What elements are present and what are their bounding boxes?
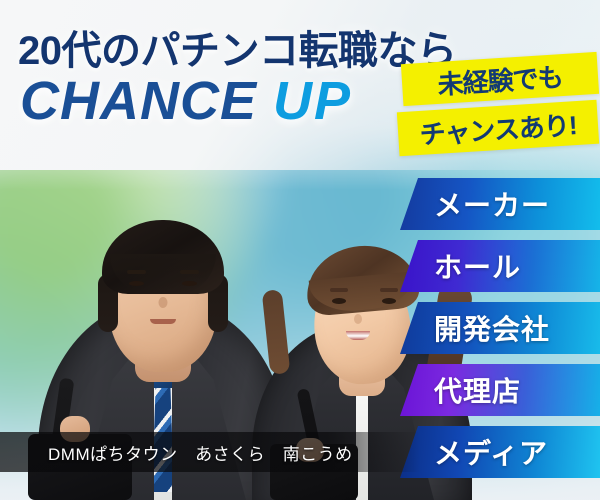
category-tab-hall[interactable]: ホール bbox=[400, 240, 600, 292]
brand-logo-up: UP bbox=[273, 71, 352, 131]
businesswoman-eye-right bbox=[382, 298, 396, 304]
businessman-eyebrow-right bbox=[180, 270, 199, 274]
brand-logo: CHANCEUP bbox=[20, 70, 352, 132]
brand-logo-chance: CHANCE bbox=[20, 71, 257, 131]
promo-badge-inexperienced: 未経験でも bbox=[401, 52, 599, 106]
businessman-eye-left bbox=[129, 281, 144, 286]
category-tab-agency-label: 代理店 bbox=[434, 370, 521, 410]
category-tab-hall-label: ホール bbox=[434, 246, 521, 286]
businessman-eye-right bbox=[182, 281, 197, 286]
caption-band: DMMぱちタウン あさくら 南こうめ bbox=[0, 432, 420, 472]
promo-badge-chance: チャンスあり! bbox=[397, 100, 599, 156]
category-tab-development-company-label: 開発会社 bbox=[434, 308, 550, 348]
businesswoman-eye-left bbox=[332, 298, 346, 304]
advertisement-banner[interactable]: 20代のパチンコ転職なら CHANCEUP 未経験でも チャンスあり! メーカー… bbox=[0, 0, 600, 500]
category-tab-development-company[interactable]: 開発会社 bbox=[400, 302, 600, 354]
businesswoman-eyebrow-left bbox=[330, 288, 348, 292]
category-tab-list: メーカー ホール 開発会社 代理店 メディア bbox=[400, 178, 600, 488]
businessman-hair bbox=[102, 220, 224, 294]
category-tab-maker-label: メーカー bbox=[434, 184, 550, 224]
caption-credit-text: DMMぱちタウン あさくら 南こうめ bbox=[48, 440, 353, 465]
category-tab-maker[interactable]: メーカー bbox=[400, 178, 600, 230]
category-tab-media[interactable]: メディア bbox=[400, 426, 600, 478]
businessman-nose bbox=[159, 297, 168, 308]
headline-text: 20代のパチンコ転職なら bbox=[18, 18, 457, 76]
businesswoman-nose bbox=[354, 314, 362, 324]
businessman-eyebrow-left bbox=[127, 270, 146, 274]
businessman-mouth bbox=[150, 319, 176, 324]
promo-badges: 未経験でも チャンスあり! bbox=[398, 58, 598, 158]
businesswoman-eyebrow-right bbox=[380, 288, 398, 292]
category-tab-agency[interactable]: 代理店 bbox=[400, 364, 600, 416]
category-tab-media-label: メディア bbox=[434, 432, 548, 472]
businesswoman-hair-side-left bbox=[262, 289, 291, 375]
